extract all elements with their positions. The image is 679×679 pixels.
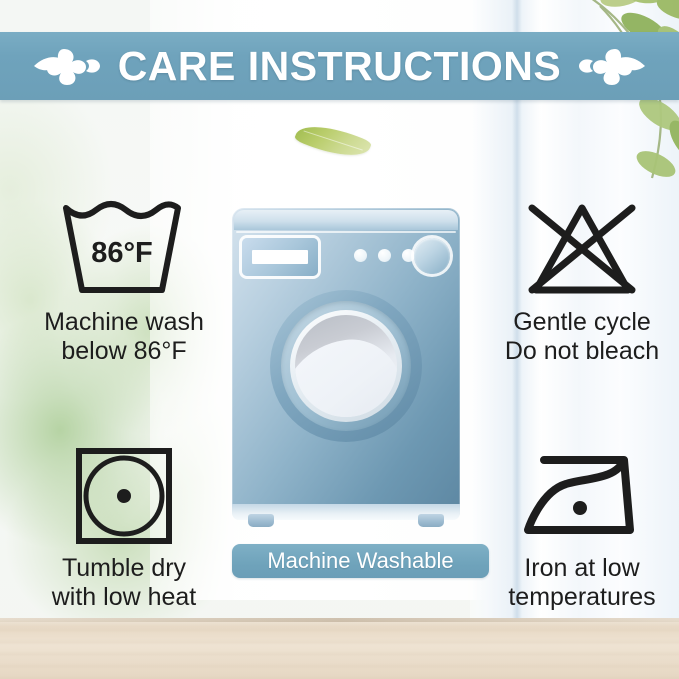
wash-tub-svg: 86°F: [58, 198, 190, 302]
header-banner: CARE INSTRUCTIONS: [0, 32, 679, 100]
machine-door-glass: [295, 315, 397, 417]
control-button-2: [378, 249, 391, 262]
machine-door: [270, 290, 422, 442]
care-instructions-infographic: CARE INSTRUCTIONS: [0, 0, 679, 679]
do-not-bleach-triangle-icon: [482, 196, 679, 304]
background-table-edge: [0, 618, 679, 622]
machine-washable-badge-label: Machine Washable: [267, 550, 453, 572]
control-knob-icon: [414, 238, 450, 274]
machine-door-ring: [290, 310, 402, 422]
care-symbol-caption: Tumble dry with low heat: [24, 554, 224, 612]
tumble-dry-svg: [72, 444, 176, 548]
detergent-drawer-icon: [242, 238, 318, 276]
machine-door-reflection: [295, 333, 397, 417]
care-symbol-gentle-cycle-no-bleach: Gentle cycle Do not bleach: [482, 196, 679, 366]
care-symbol-caption: Iron at low temperatures: [482, 554, 679, 612]
machine-top-seam: [236, 231, 456, 233]
care-symbol-tumble-dry: Tumble dry with low heat: [24, 442, 224, 612]
control-button-1: [354, 249, 367, 262]
wash-tub-icon: 86°F: [24, 196, 224, 304]
tumble-dry-low-heat-icon: [24, 442, 224, 550]
washing-machine-illustration: [232, 208, 460, 530]
control-buttons: [354, 249, 415, 262]
fleur-de-lis-icon-left: [34, 43, 100, 89]
wash-temperature-label: 86°F: [91, 237, 153, 269]
detergent-drawer-slot: [252, 250, 308, 264]
care-symbol-caption: Machine wash below 86°F: [24, 308, 224, 366]
iron-svg: [518, 448, 646, 544]
machine-door-rim: [281, 301, 411, 431]
iron-low-temperature-icon: [482, 442, 679, 550]
machine-foot-right: [418, 514, 444, 527]
machine-top-lid: [234, 210, 458, 230]
fleur-de-lis-icon-right: [579, 43, 645, 89]
care-symbol-caption: Gentle cycle Do not bleach: [482, 308, 679, 366]
do-not-bleach-svg: [516, 198, 648, 302]
care-symbol-iron-low: Iron at low temperatures: [482, 442, 679, 612]
page-title: CARE INSTRUCTIONS: [118, 46, 562, 87]
machine-foot-left: [248, 514, 274, 527]
background-table-surface: [0, 618, 679, 679]
machine-washable-badge: Machine Washable: [232, 544, 489, 578]
care-symbol-machine-wash: 86°F Machine wash below 86°F: [24, 196, 224, 366]
